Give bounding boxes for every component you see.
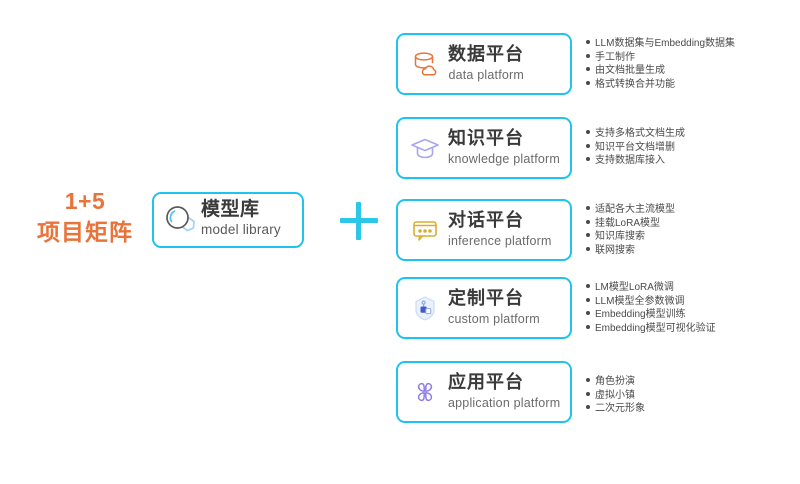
feature-list-inference: 适配各大主流模型 挂载LoRA模型 知识库搜索 联网搜索 xyxy=(586,203,675,257)
graduation-cap-icon xyxy=(408,131,442,165)
bullet-dot-icon xyxy=(586,67,590,71)
bullet-dot-icon xyxy=(586,392,590,396)
feature-text: 知识库搜索 xyxy=(595,230,645,244)
feature-text: 联网搜索 xyxy=(595,244,635,258)
bullet-dot-icon xyxy=(586,378,590,382)
platform-name-cn-knowledge: 知识平台 xyxy=(448,129,524,149)
bullet-dot-icon xyxy=(586,54,590,58)
feature-list-data: LLM数据集与Embedding数据集 手工制作 由文档批量生成 格式转换合并功… xyxy=(586,37,735,91)
database-cloud-icon xyxy=(408,47,442,81)
platform-row-data: 数据平台 data platform LLM数据集与Embedding数据集 手… xyxy=(396,33,796,95)
bullet-dot-icon xyxy=(586,81,590,85)
list-item: 知识库搜索 xyxy=(586,230,675,244)
list-item: LM模型LoRA微调 xyxy=(586,281,716,295)
platform-name-cn-custom: 定制平台 xyxy=(448,289,524,309)
platform-name-en-inference: inference platform xyxy=(448,234,552,249)
bullet-dot-icon xyxy=(586,130,590,134)
bullet-dot-icon xyxy=(586,298,590,302)
list-item: 手工制作 xyxy=(586,51,735,65)
feature-text: Embedding模型训练 xyxy=(595,308,686,322)
list-item: LLM模型全参数微调 xyxy=(586,295,716,309)
list-item: Embedding模型训练 xyxy=(586,308,716,322)
platform-node-inference[interactable]: 对话平台 inference platform xyxy=(396,199,572,261)
platform-name-cn-application: 应用平台 xyxy=(448,373,524,393)
diagram-title-line-1: 1+5 xyxy=(24,186,146,217)
list-item: 知识平台文档增删 xyxy=(586,141,685,155)
feature-list-custom: LM模型LoRA微调 LLM模型全参数微调 Embedding模型训练 Embe… xyxy=(586,281,716,335)
sphere-hexagon-icon xyxy=(163,203,197,237)
bullet-dot-icon xyxy=(586,206,590,210)
diagram-title: 1+5 项目矩阵 xyxy=(24,186,146,248)
feature-text: 挂载LoRA模型 xyxy=(595,217,660,231)
feature-text: 角色扮演 xyxy=(595,375,635,389)
platform-name-cn-data: 数据平台 xyxy=(448,45,524,65)
diagram-title-line-2: 项目矩阵 xyxy=(24,217,146,248)
feature-text: 格式转换合并功能 xyxy=(595,78,675,92)
model-library-node[interactable]: 模型库 model library xyxy=(152,192,304,248)
list-item: 适配各大主流模型 xyxy=(586,203,675,217)
list-item: 二次元形象 xyxy=(586,402,645,416)
bullet-dot-icon xyxy=(586,325,590,329)
feature-text: 虚拟小镇 xyxy=(595,389,635,403)
platform-row-knowledge: 知识平台 knowledge platform 支持多格式文档生成 知识平台文档… xyxy=(396,117,796,179)
list-item: 虚拟小镇 xyxy=(586,389,645,403)
model-library-name-en: model library xyxy=(201,222,281,239)
bullet-dot-icon xyxy=(586,311,590,315)
plus-icon-vertical-bar xyxy=(356,202,361,240)
list-item: 格式转换合并功能 xyxy=(586,78,735,92)
bullet-dot-icon xyxy=(586,144,590,148)
bullet-dot-icon xyxy=(586,247,590,251)
platform-row-application: 应用平台 application platform 角色扮演 虚拟小镇 二次元形… xyxy=(396,361,796,423)
platform-labels-inference: 对话平台 inference platform xyxy=(448,211,552,249)
platform-node-data[interactable]: 数据平台 data platform xyxy=(396,33,572,95)
platform-row-inference: 对话平台 inference platform 适配各大主流模型 挂载LoRA模… xyxy=(396,199,796,261)
bullet-dot-icon xyxy=(586,40,590,44)
plus-icon xyxy=(340,202,378,240)
feature-text: LM模型LoRA微调 xyxy=(595,281,674,295)
bullet-dot-icon xyxy=(586,220,590,224)
bullet-dot-icon xyxy=(586,405,590,409)
clover-icon xyxy=(408,375,442,409)
model-library-labels: 模型库 model library xyxy=(201,200,281,240)
platform-name-en-data: data platform xyxy=(448,68,524,83)
feature-text: 二次元形象 xyxy=(595,402,645,416)
list-item: 角色扮演 xyxy=(586,375,645,389)
platform-name-en-custom: custom platform xyxy=(448,312,540,327)
list-item: 支持多格式文档生成 xyxy=(586,127,685,141)
feature-text: 适配各大主流模型 xyxy=(595,203,675,217)
feature-text: 支持多格式文档生成 xyxy=(595,127,685,141)
platform-name-en-application: application platform xyxy=(448,396,560,411)
platform-node-custom[interactable]: 定制平台 custom platform xyxy=(396,277,572,339)
list-item: 挂载LoRA模型 xyxy=(586,217,675,231)
list-item: 由文档批量生成 xyxy=(586,64,735,78)
list-item: LLM数据集与Embedding数据集 xyxy=(586,37,735,51)
platform-node-knowledge[interactable]: 知识平台 knowledge platform xyxy=(396,117,572,179)
platform-name-cn-inference: 对话平台 xyxy=(448,211,524,231)
feature-list-knowledge: 支持多格式文档生成 知识平台文档增删 支持数据库接入 xyxy=(586,127,685,168)
robot-gear-icon xyxy=(408,291,442,325)
feature-list-application: 角色扮演 虚拟小镇 二次元形象 xyxy=(586,375,645,416)
feature-text: 支持数据库接入 xyxy=(595,154,665,168)
chat-bubble-icon xyxy=(408,213,442,247)
platform-labels-knowledge: 知识平台 knowledge platform xyxy=(448,129,560,167)
model-library-name-cn: 模型库 xyxy=(201,200,281,220)
feature-text: 由文档批量生成 xyxy=(595,64,665,78)
list-item: Embedding模型可视化验证 xyxy=(586,322,716,336)
platform-labels-data: 数据平台 data platform xyxy=(448,45,524,83)
feature-text: LLM数据集与Embedding数据集 xyxy=(595,37,735,51)
feature-text: 手工制作 xyxy=(595,51,635,65)
bullet-dot-icon xyxy=(586,157,590,161)
platform-node-application[interactable]: 应用平台 application platform xyxy=(396,361,572,423)
platform-labels-custom: 定制平台 custom platform xyxy=(448,289,540,327)
feature-text: Embedding模型可视化验证 xyxy=(595,322,716,336)
platform-row-custom: 定制平台 custom platform LM模型LoRA微调 LLM模型全参数… xyxy=(396,277,796,339)
platform-name-en-knowledge: knowledge platform xyxy=(448,152,560,167)
list-item: 联网搜索 xyxy=(586,244,675,258)
feature-text: LLM模型全参数微调 xyxy=(595,295,684,309)
bullet-dot-icon xyxy=(586,284,590,288)
feature-text: 知识平台文档增删 xyxy=(595,141,675,155)
bullet-dot-icon xyxy=(586,233,590,237)
list-item: 支持数据库接入 xyxy=(586,154,685,168)
platform-labels-application: 应用平台 application platform xyxy=(448,373,560,411)
